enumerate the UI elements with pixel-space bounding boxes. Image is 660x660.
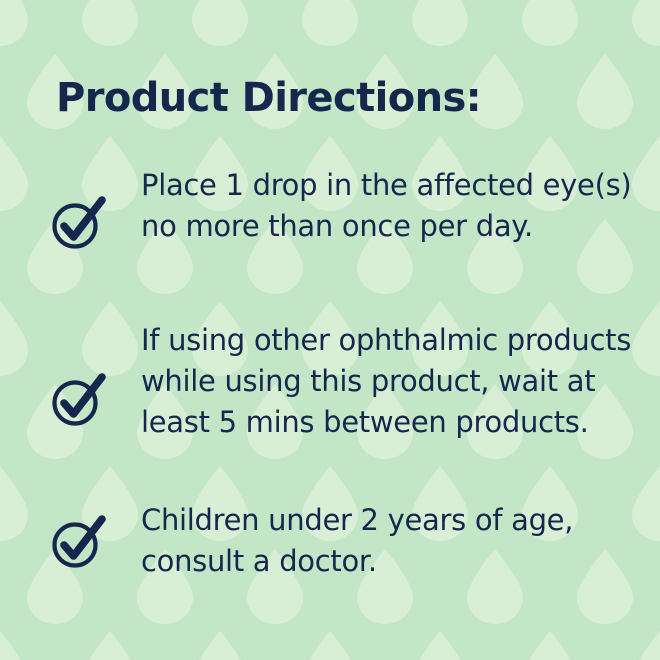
list-item-label: Children under 2 years of age, consult a…: [50, 500, 650, 582]
list-item-label: If using other ophthalmic products while…: [50, 320, 650, 443]
product-directions-card: Product Directions: Place 1 drop in the …: [0, 0, 660, 660]
circle-check-icon: [50, 512, 108, 570]
card-content: Product Directions: Place 1 drop in the …: [0, 0, 660, 660]
list-item: Place 1 drop in the affected eye(s) no m…: [50, 165, 650, 247]
list-item-label: Place 1 drop in the affected eye(s) no m…: [50, 165, 650, 247]
circle-check-icon: [50, 370, 108, 428]
page-title: Product Directions:: [56, 78, 481, 118]
circle-check-icon: [50, 193, 108, 251]
list-item: If using other ophthalmic products while…: [50, 320, 650, 443]
list-item: Children under 2 years of age, consult a…: [50, 500, 650, 582]
